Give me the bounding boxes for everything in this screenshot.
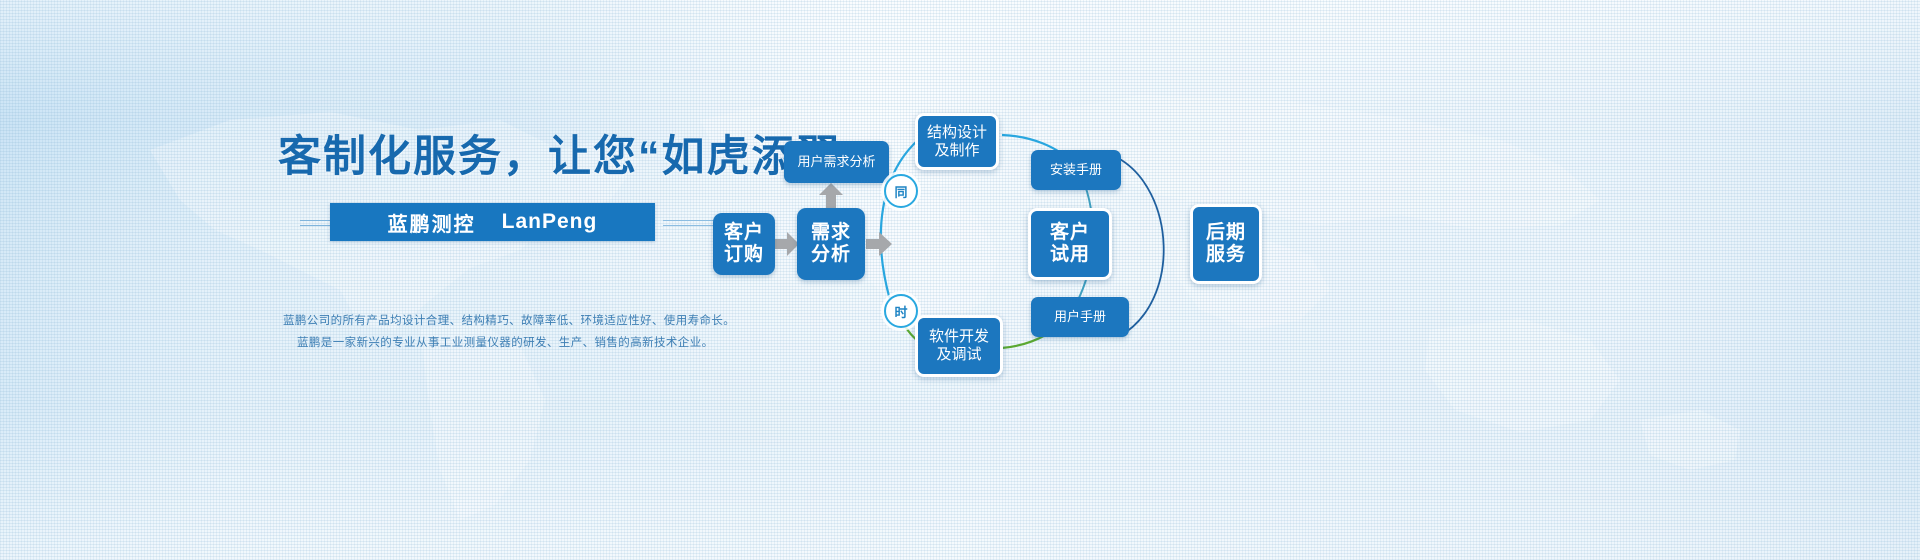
description-line-2: 蓝鹏是一家新兴的专业从事工业测量仪器的研发、生产、销售的高新技术企业。 [297, 332, 683, 354]
flow-node-user-requirement-analysis[interactable]: 用户需求分析 [784, 141, 889, 183]
arrow-analysis-to-user-req [818, 183, 844, 209]
cycle-badge-shi: 时 [884, 294, 918, 328]
brand-name-cn: 蓝鹏测控 [388, 208, 476, 237]
page-title: 客制化服务，让您“如虎添翼” [278, 136, 865, 179]
flow-node-label: 结构设计及制作 [927, 124, 987, 159]
flow-node-label: 安装手册 [1050, 162, 1102, 177]
arrow-order-to-analysis [775, 231, 799, 257]
brand-tag-bar: 蓝鹏测控 LanPeng [330, 203, 655, 241]
arrow-analysis-to-cycle [866, 231, 892, 257]
dot-grid-texture [0, 0, 1920, 560]
promo-banner: 客制化服务，让您“如虎添翼” 蓝鹏测控 LanPeng 蓝鹏公司的所有产品均设计… [0, 0, 1920, 560]
flow-node-user-manual[interactable]: 用户手册 [1031, 297, 1129, 337]
flow-node-installation-manual[interactable]: 安装手册 [1031, 150, 1121, 190]
badge-label: 同 [894, 182, 907, 201]
flow-node-requirement-analysis[interactable]: 需求分析 [797, 208, 865, 280]
description-line-1: 蓝鹏公司的所有产品均设计合理、结构精巧、故障率低、环境适应性好、使用寿命长。 [283, 310, 683, 332]
brand-name-en: LanPeng [502, 210, 598, 234]
flow-node-software-development[interactable]: 软件开发及调试 [915, 315, 1003, 377]
world-map-background [0, 0, 1920, 560]
flow-node-customer-trial[interactable]: 客户试用 [1028, 208, 1112, 280]
flow-node-structural-design[interactable]: 结构设计及制作 [915, 113, 999, 170]
company-description: 蓝鹏公司的所有产品均设计合理、结构精巧、故障率低、环境适应性好、使用寿命长。 蓝… [283, 310, 683, 354]
flow-node-label: 需求分析 [811, 222, 851, 267]
flow-node-label: 后期服务 [1206, 222, 1246, 267]
flow-connector-arcs [0, 0, 1920, 560]
light-bloom-overlay [0, 0, 1920, 560]
flow-node-label: 用户手册 [1054, 309, 1106, 324]
flow-node-label: 客户订购 [724, 222, 764, 267]
cycle-badge-tong: 同 [884, 174, 918, 208]
flow-node-label: 客户试用 [1050, 222, 1090, 267]
flow-node-label: 用户需求分析 [797, 154, 875, 169]
flow-node-label: 软件开发及调试 [929, 328, 989, 363]
flow-node-after-sales-service[interactable]: 后期服务 [1190, 204, 1262, 284]
badge-label: 时 [894, 302, 907, 321]
flow-node-customer-order[interactable]: 客户订购 [713, 213, 775, 275]
tagbar-left-rule [300, 220, 330, 226]
